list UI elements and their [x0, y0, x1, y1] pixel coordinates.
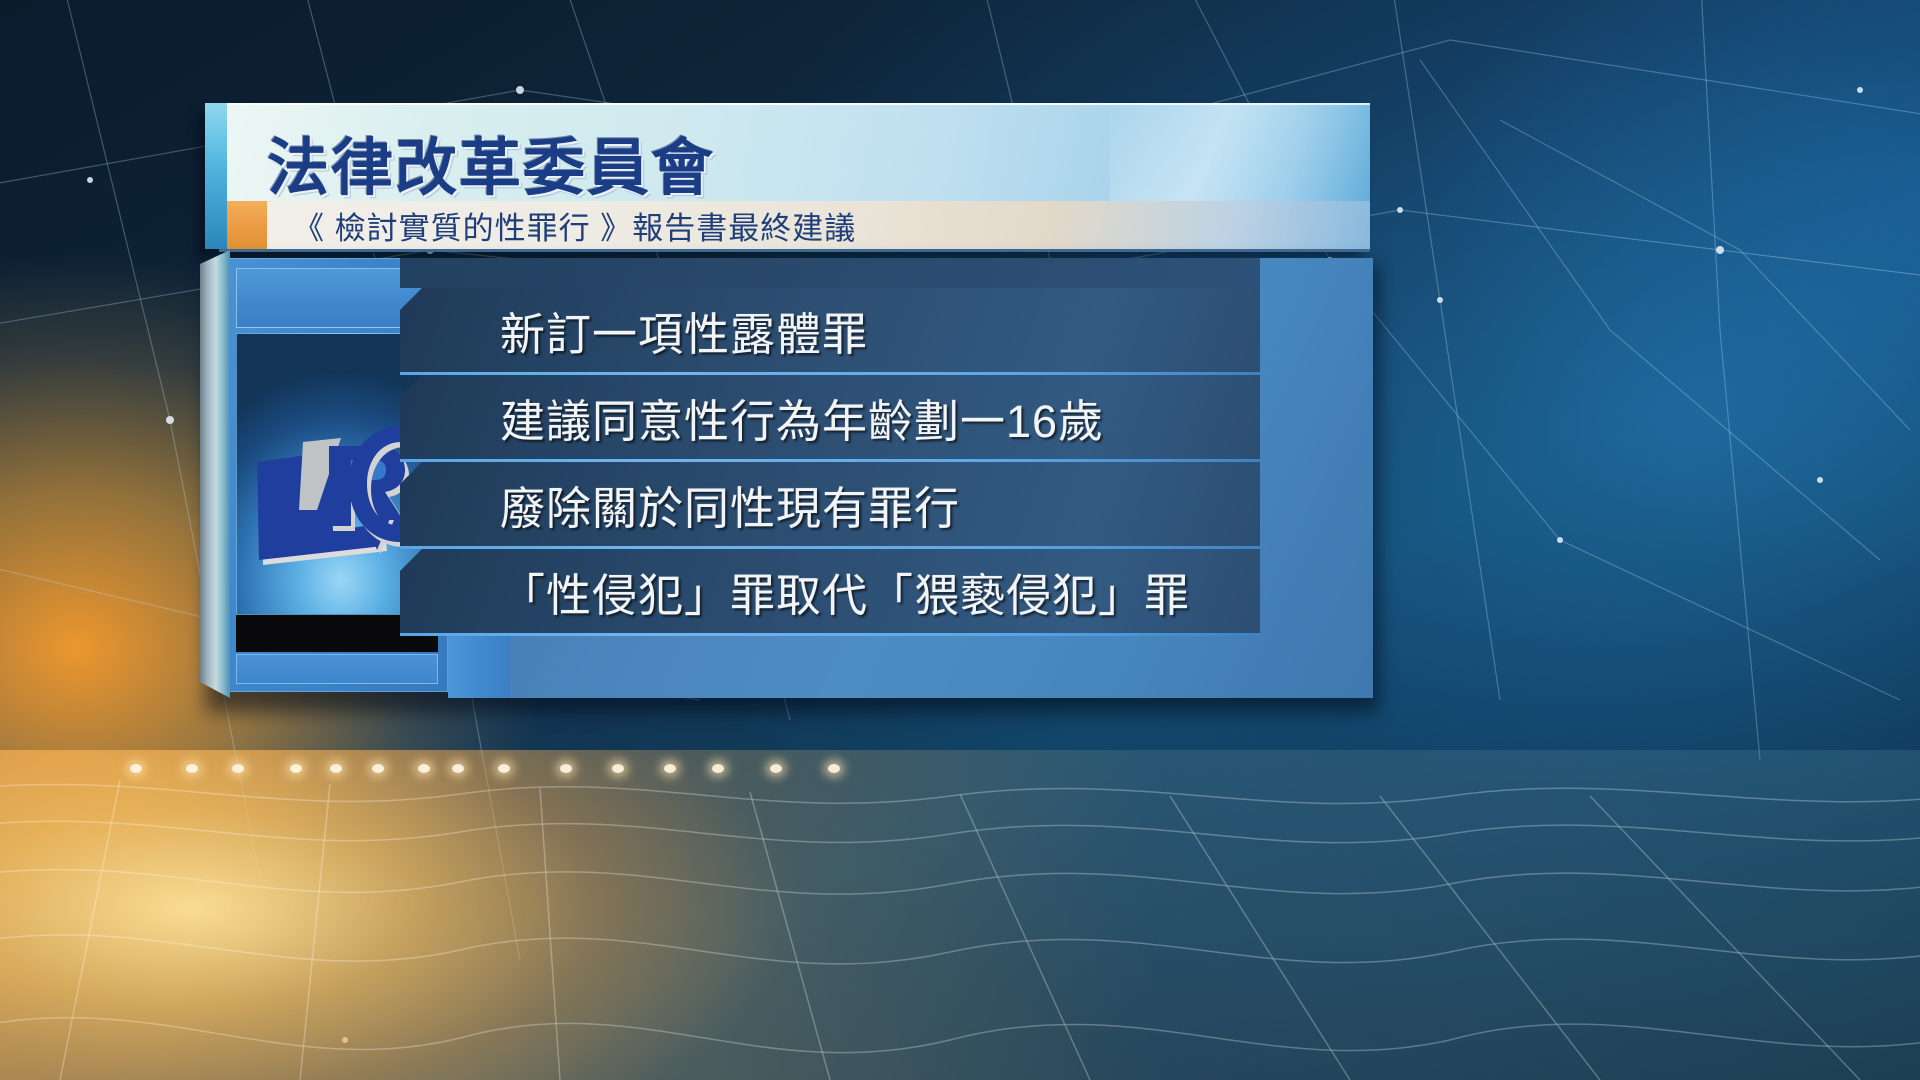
list-item-label: 建議同意性行為年齡劃一16歲 — [500, 385, 1104, 450]
rows-top-strip — [400, 258, 1260, 288]
recommendation-list: 新訂一項性露體罪 建議同意性行為年齡劃一16歲 廢除關於同性現有罪行 「性侵犯」… — [510, 258, 1373, 698]
list-item-label: 「性侵犯」罪取代「猥褻侵犯」罪 — [500, 559, 1190, 624]
list-item-label: 新訂一項性露體罪 — [500, 298, 868, 363]
list-item[interactable]: 「性侵犯」罪取代「猥褻侵犯」罪 — [400, 549, 1260, 633]
floor-light-strip — [0, 760, 1920, 784]
list-item[interactable]: 建議同意性行為年齡劃一16歲 — [400, 375, 1260, 459]
list-separator — [400, 633, 1260, 636]
logo-column-bottom-plate — [236, 654, 438, 684]
banner-subtitle-text: 《 檢討實質的性罪行 》報告書最終建議 — [293, 203, 856, 248]
title-banner: 《 檢討實質的性罪行 》報告書最終建議 法律改革委員會 — [205, 103, 1370, 249]
banner-left-edge-accent — [205, 103, 227, 249]
broadcast-graphic-stage: 《 檢討實質的性罪行 》報告書最終建議 法律改革委員會 — [0, 0, 1920, 1080]
page-title: 法律改革委員會 — [267, 117, 715, 207]
banner-subtitle-plate: 《 檢討實質的性罪行 》報告書最終建議 — [219, 201, 1370, 252]
list-item[interactable]: 廢除關於同性現有罪行 — [400, 462, 1260, 546]
list-separator — [400, 372, 1260, 375]
list-separator — [400, 459, 1260, 462]
list-separator — [400, 546, 1260, 549]
stage-floor-decoration — [0, 750, 1920, 1080]
content-board: 新訂一項性露體罪 建議同意性行為年齡劃一16歲 廢除關於同性現有罪行 「性侵犯」… — [200, 250, 1373, 698]
list-item[interactable]: 新訂一項性露體罪 — [400, 288, 1260, 372]
list-item-label: 廢除關於同性現有罪行 — [500, 472, 960, 537]
board-left-bevel — [200, 250, 230, 698]
